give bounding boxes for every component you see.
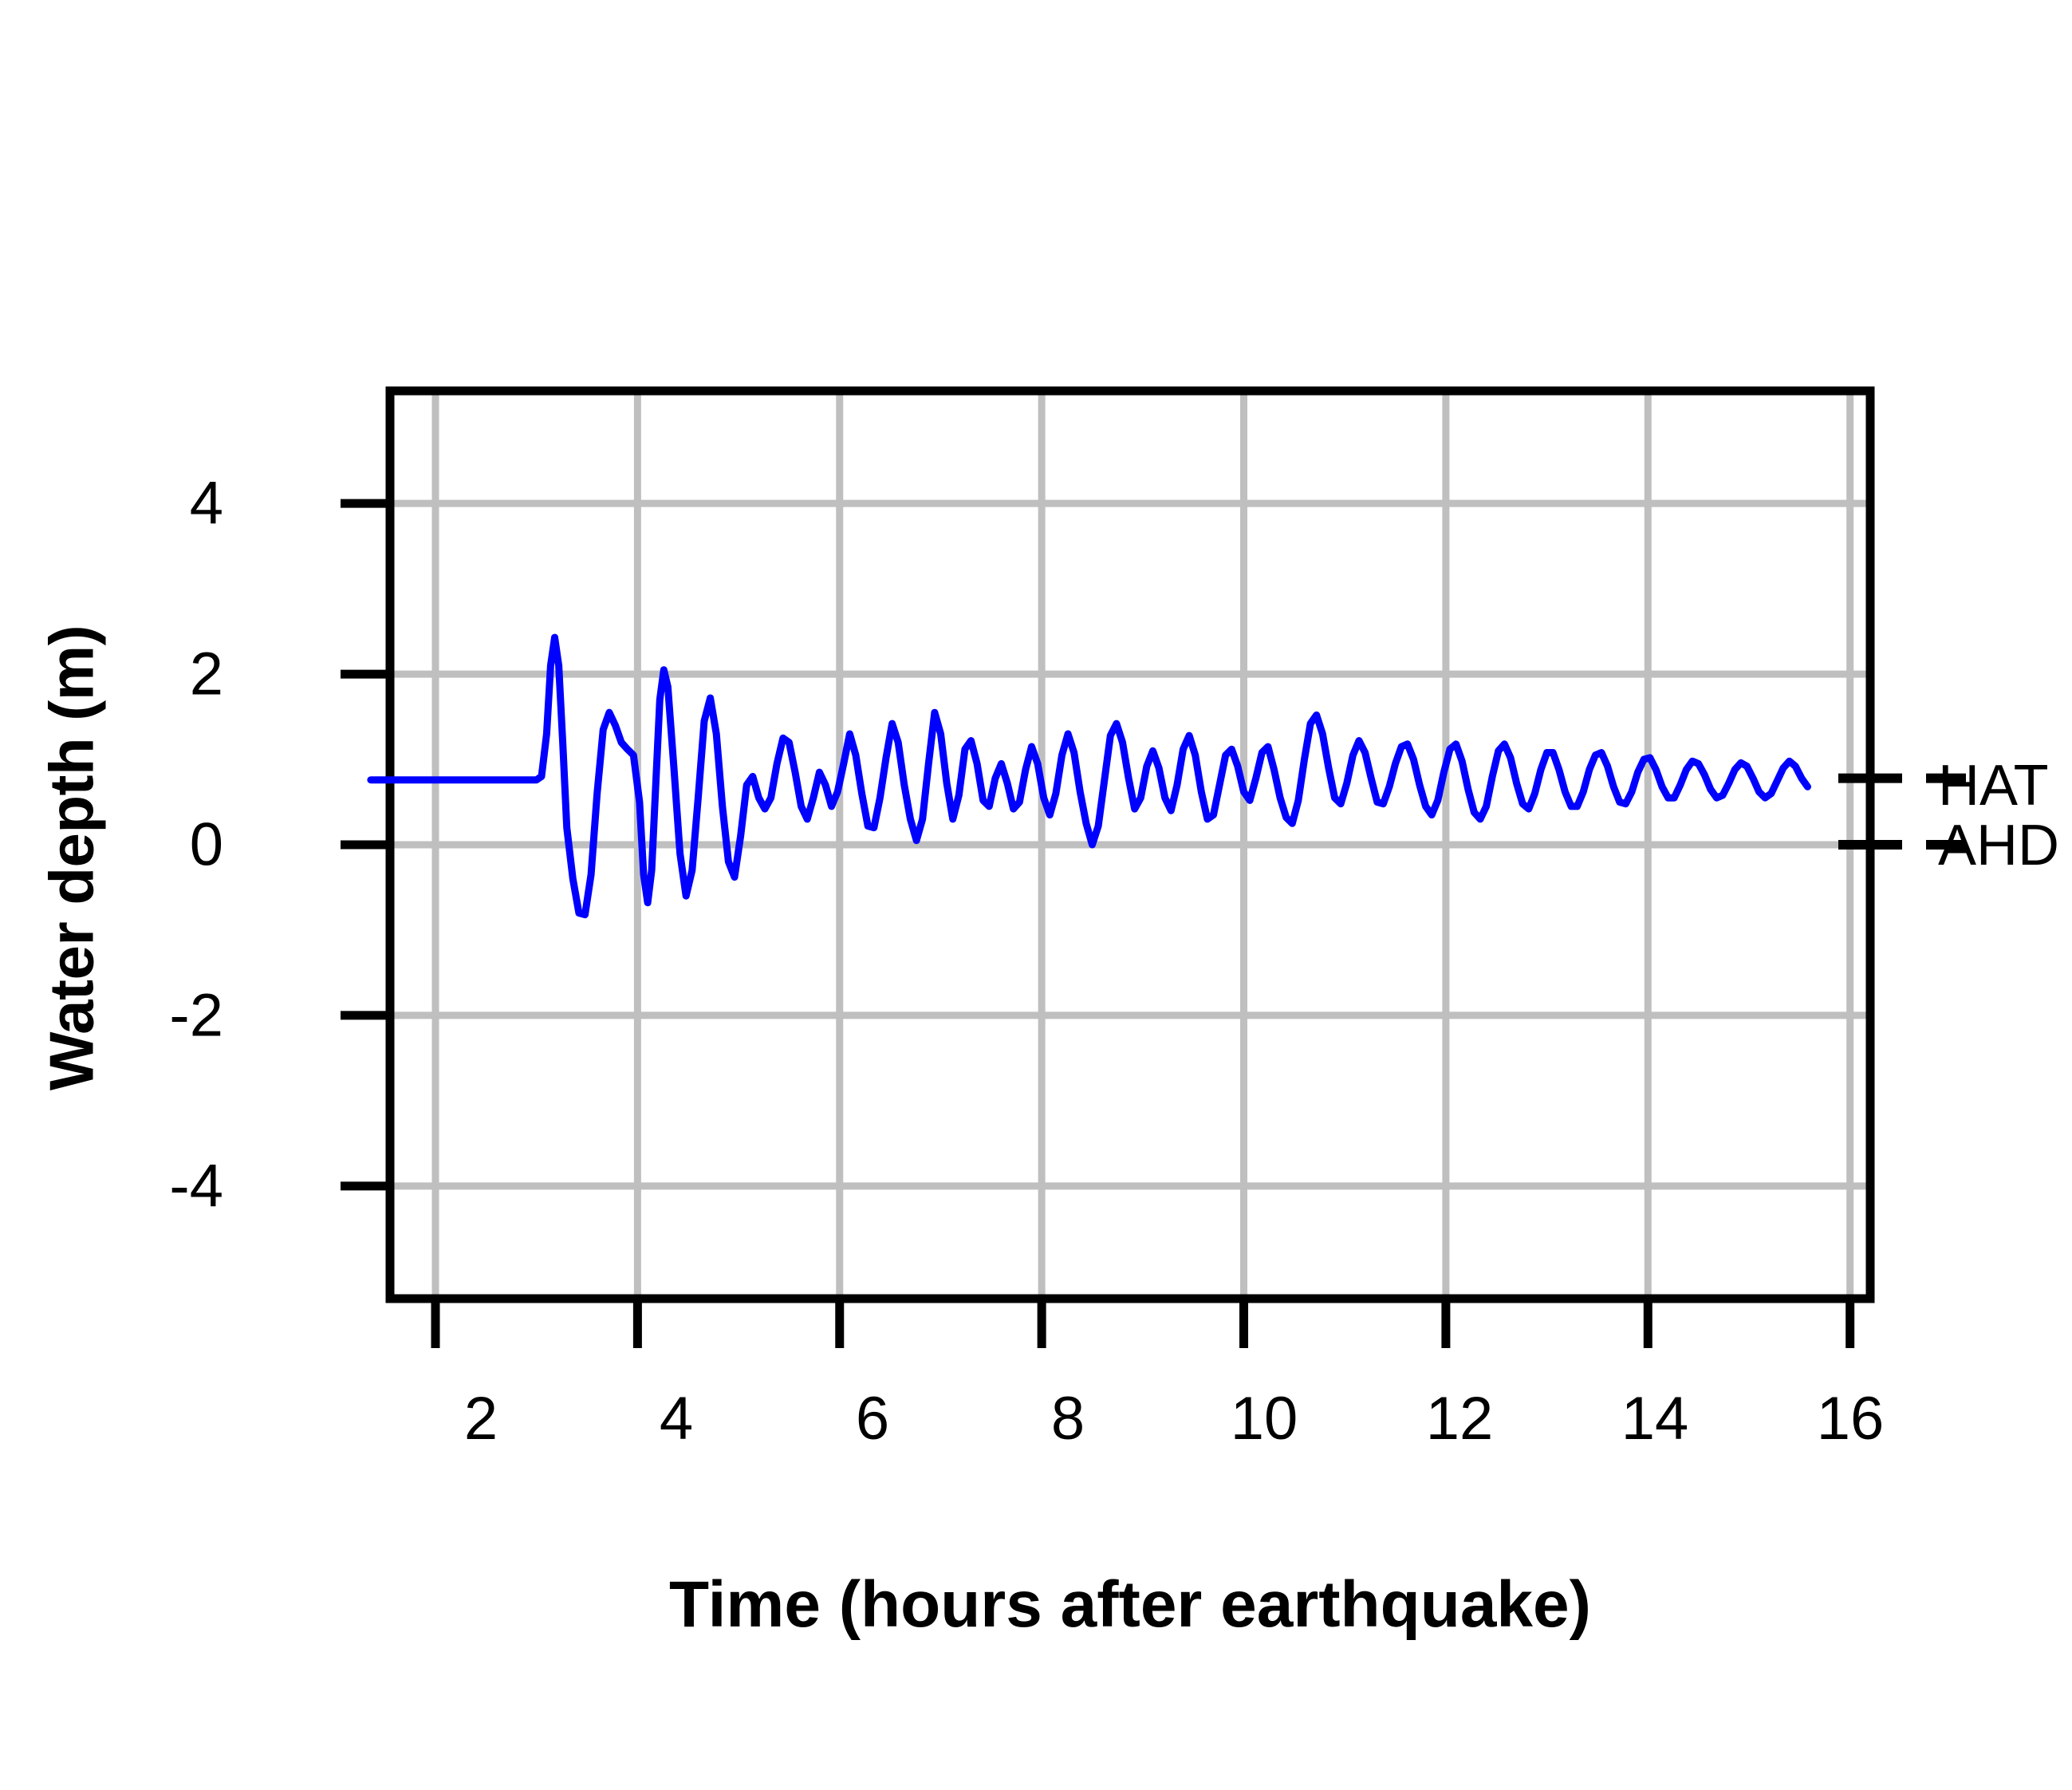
water-level-line — [371, 637, 1808, 915]
chart-figure: Water depth (m) Time (hours after earthq… — [0, 0, 2072, 1790]
datum-markers — [1838, 779, 1966, 845]
plot-area — [0, 0, 2072, 1790]
x-axis-ticks — [435, 1299, 1850, 1348]
y-axis-ticks — [341, 503, 390, 1186]
